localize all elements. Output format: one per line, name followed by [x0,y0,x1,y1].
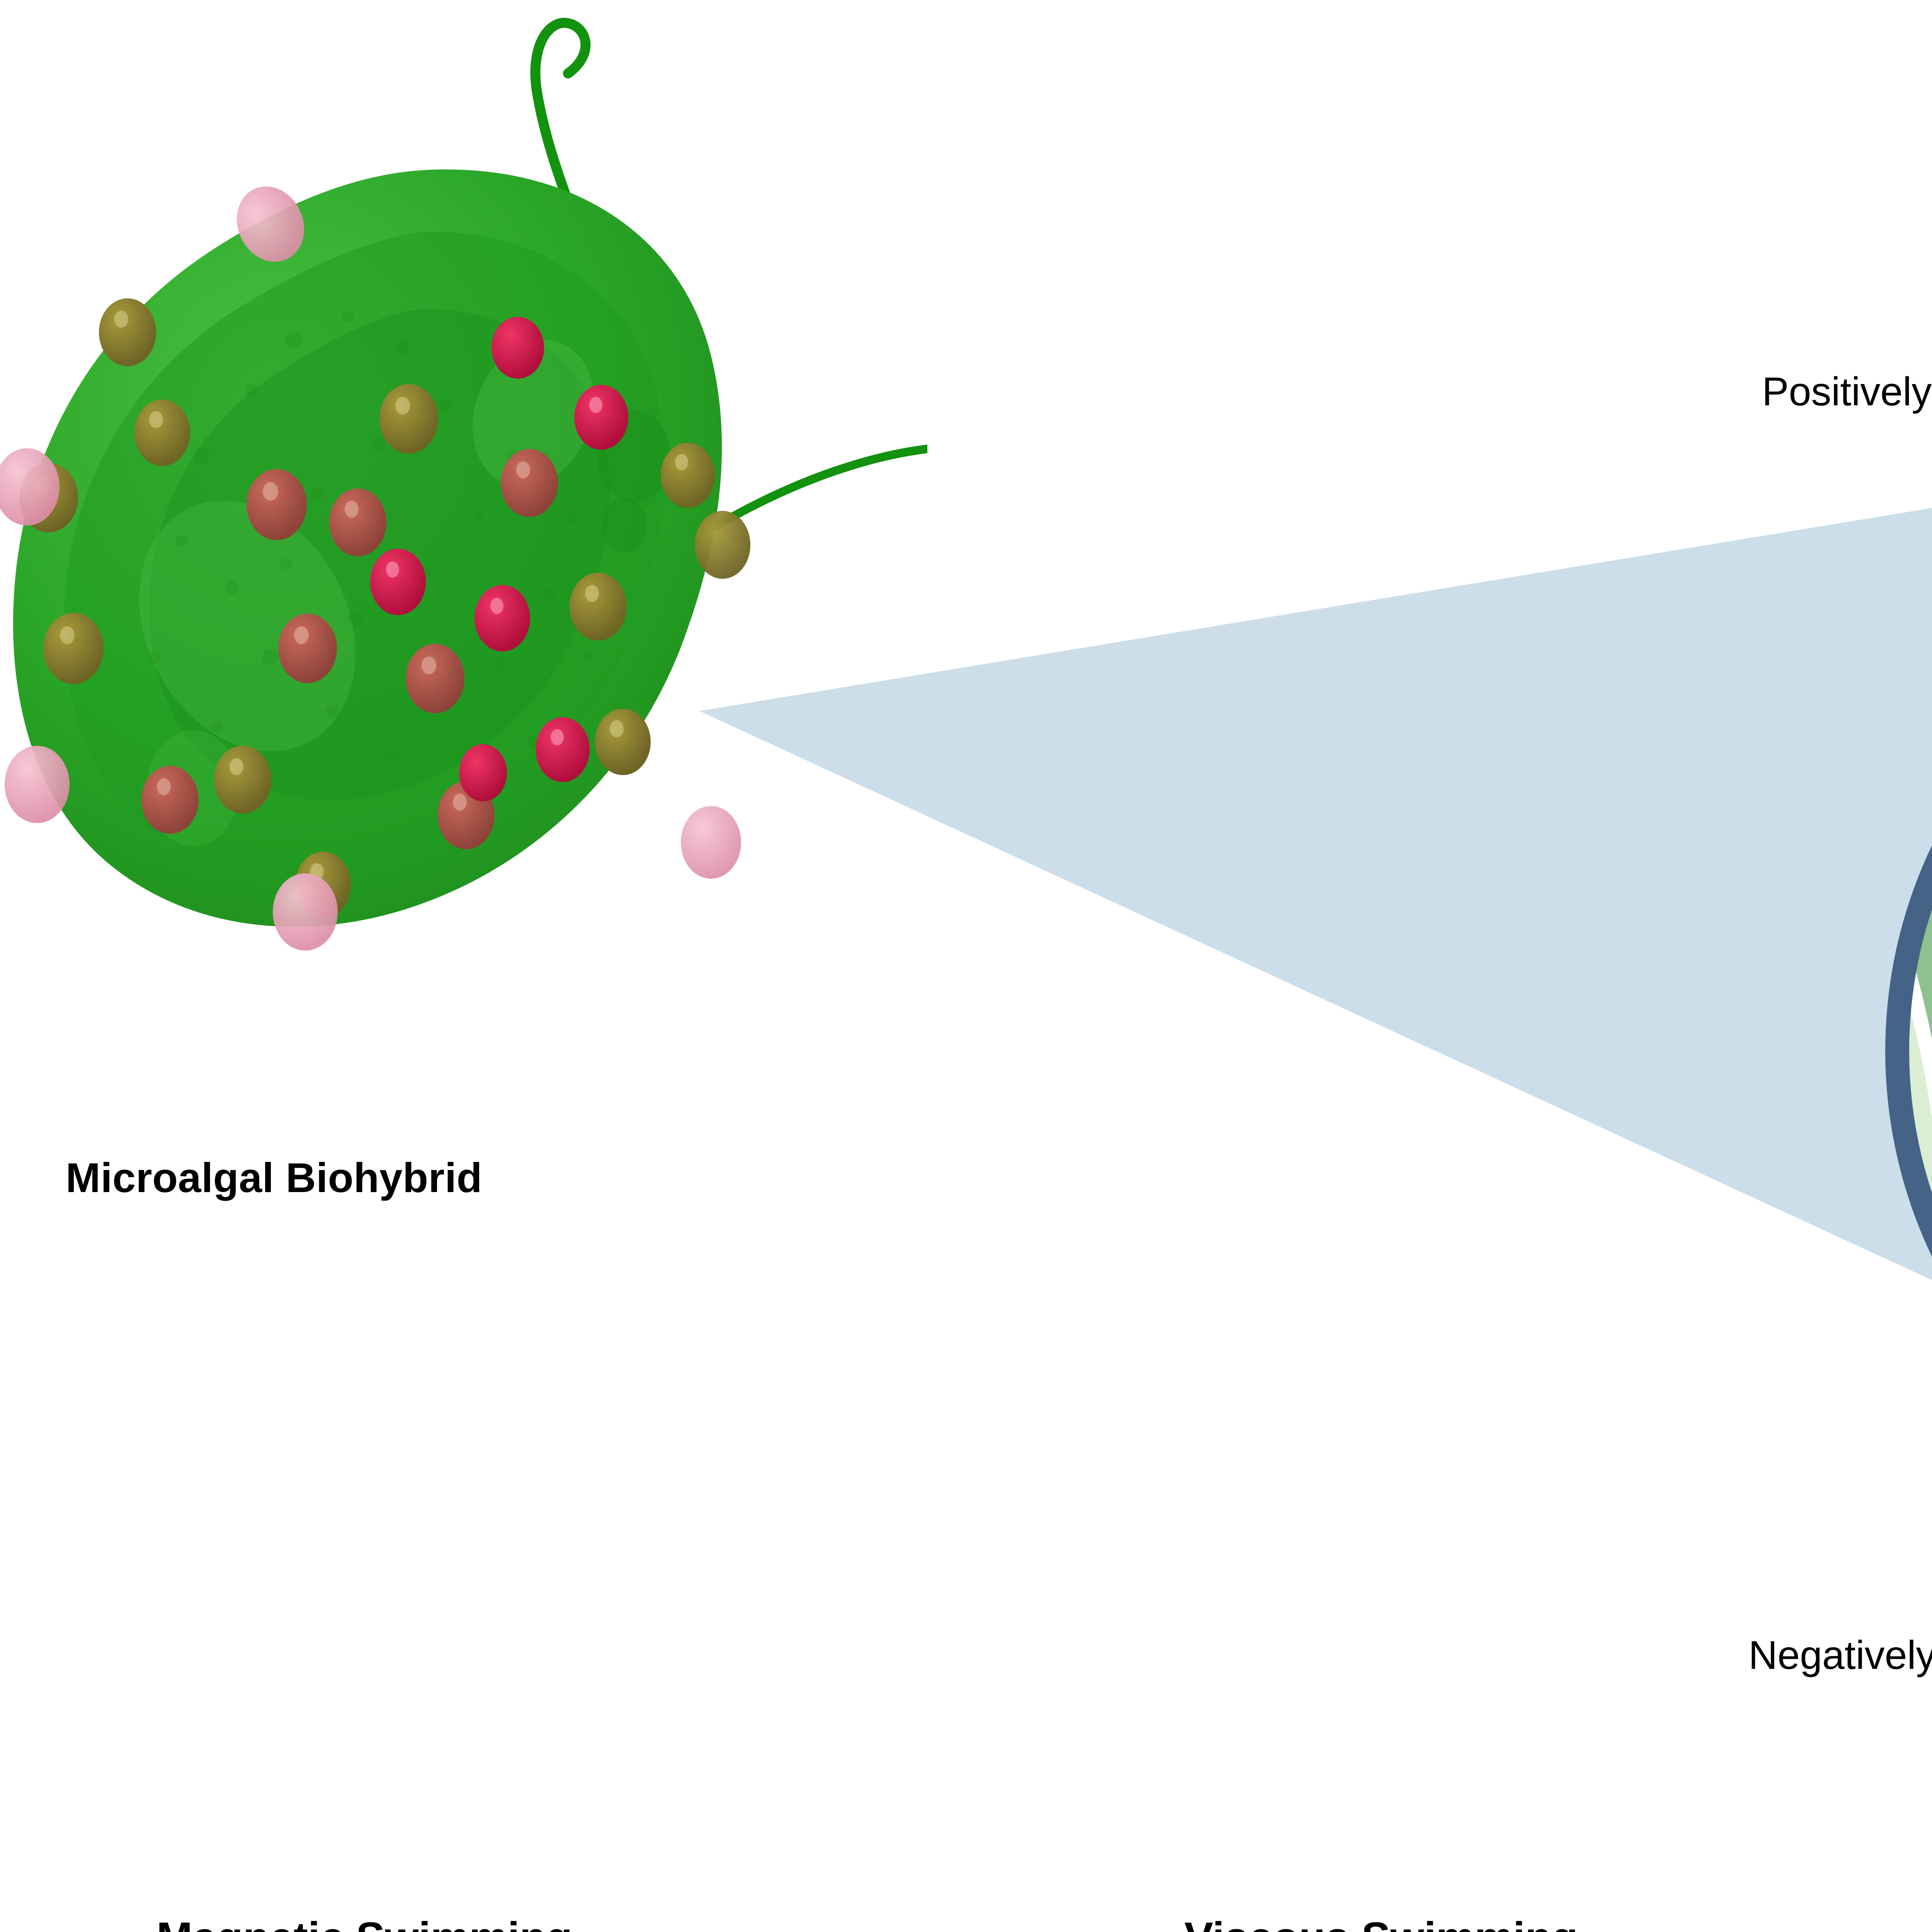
mnp-particle [43,613,104,684]
mnp-caption: Positively charged, amine-functionalized… [1762,369,1932,415]
mnp-particle [474,585,530,651]
mnp-particle [406,644,464,713]
mnp-particle-surface [5,746,70,823]
cone-beam [699,495,1932,1318]
mnp-particle [492,317,544,379]
mnp-particle [214,746,271,814]
cellwall-caption: Negatively charged multilayered cell wal… [1748,1633,1932,1679]
mnp-particle [570,573,627,641]
mnp-particle [99,298,156,366]
mnp-particle [278,614,337,683]
mnp-cellwall-inset [1866,479,1932,1623]
mnp-particle [501,449,558,517]
panel-title-viscous: Viscous Swimming [1184,1913,1578,1932]
mnp-particle [141,766,199,834]
mnp-particle-surface [273,873,338,951]
mnp-particle [370,549,426,615]
panel-title-magnetic: Magnetic Swimming [156,1913,573,1932]
mnp-particle [574,385,628,450]
mnp-particle [247,469,307,540]
mnp-particle [329,488,386,556]
mnp-particle [459,744,507,801]
mnp-particle [536,717,590,782]
figure-canvas: Microalgal Biohybrid [0,0,1932,1932]
microalgal-biohybrid-label: Microalgal Biohybrid [66,1153,482,1202]
magnifier-cone [676,495,1932,1461]
mnp-particle [379,384,438,454]
mnp-particle [134,400,190,466]
mnp-particle [595,709,651,775]
eyespot-2 [602,498,646,553]
